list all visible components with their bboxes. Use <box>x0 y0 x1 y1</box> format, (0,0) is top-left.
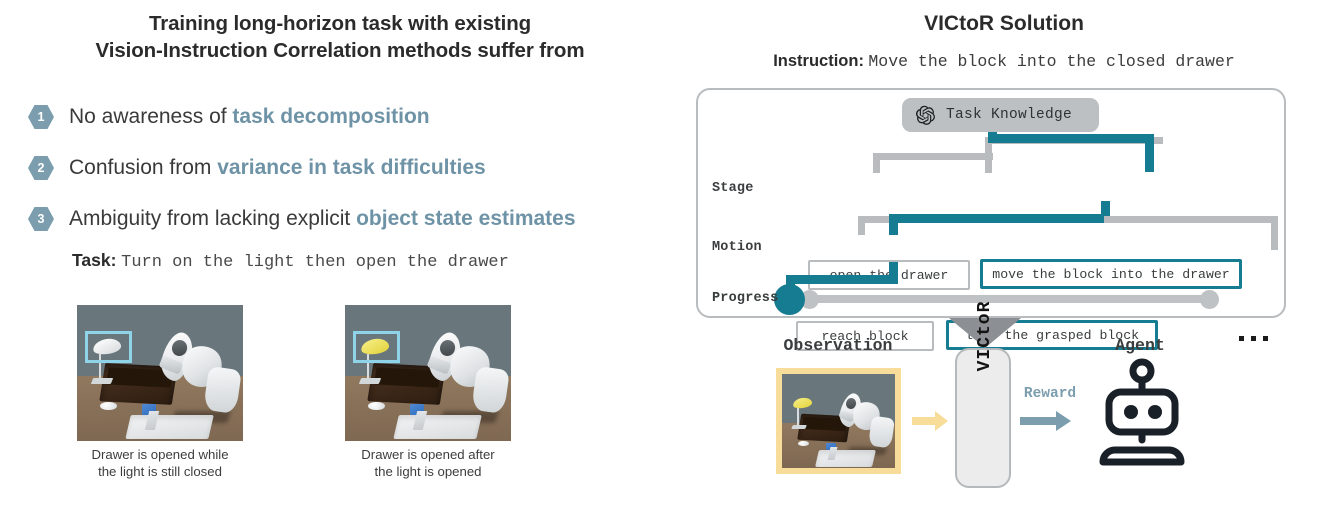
lamp-highlight-box <box>353 331 399 364</box>
agent-title: Agent <box>1060 336 1220 355</box>
bullet-highlight-1: task decomposition <box>232 105 429 128</box>
observation-title: Observation <box>758 336 918 355</box>
bullet-highlight-2: variance in task difficulties <box>217 156 485 179</box>
left-panel: Training long-horizon task with existing… <box>0 0 680 512</box>
left-panel-title: Training long-horizon task with existing… <box>0 10 680 64</box>
bullet-badge-2: 2 <box>28 156 54 180</box>
task-label: Task: <box>72 250 116 270</box>
list-item: 1 No awareness of task decomposition <box>28 96 668 138</box>
bullet-badge-1: 1 <box>28 105 54 129</box>
observation-to-victor-arrow <box>912 409 950 433</box>
figure-root: Training long-horizon task with existing… <box>0 0 1328 512</box>
shot-caption-2-line-2: the light is opened <box>345 464 511 481</box>
shot-caption-1: Drawer is opened while the light is stil… <box>77 447 243 480</box>
stage-node-2[interactable]: move the block into the drawer <box>980 259 1242 289</box>
sim-scene-lamp-on <box>345 305 511 441</box>
row-label-stage: Stage <box>712 181 754 196</box>
bullet-prefix-2: Confusion from <box>69 156 217 179</box>
bullet-badge-3: 3 <box>28 207 54 231</box>
bullet-highlight-3: object state estimates <box>356 207 575 230</box>
victor-module[interactable]: VICtoR <box>955 348 1011 488</box>
task-line: Task: Turn on the light then open the dr… <box>72 250 509 272</box>
progress-marker-end[interactable] <box>1200 290 1219 309</box>
list-item: 2 Confusion from variance in task diffic… <box>28 147 668 189</box>
reward-label: Reward <box>1015 386 1085 402</box>
reward-arrow <box>1020 409 1072 433</box>
ellipsis-icon <box>1239 336 1268 341</box>
observation-thumbnail[interactable] <box>776 368 901 474</box>
example-screenshots: Drawer is opened while the light is stil… <box>0 305 680 505</box>
shot-caption-2: Drawer is opened after the light is open… <box>345 447 511 480</box>
right-panel: VICtoR Solution Instruction: Move the bl… <box>680 0 1328 512</box>
task-knowledge-pill[interactable]: Task Knowledge <box>902 98 1099 132</box>
shot-caption-2-line-1: Drawer is opened after <box>345 447 511 464</box>
list-item: 3 Ambiguity from lacking explicit object… <box>28 198 668 240</box>
problem-list: 1 No awareness of task decomposition 2 C… <box>28 96 668 249</box>
bullet-prefix-3: Ambiguity from lacking explicit <box>69 207 356 230</box>
left-title-line-1: Training long-horizon task with existing <box>0 10 680 37</box>
instruction-line: Instruction: Move the block into the clo… <box>680 52 1328 71</box>
lamp-highlight-box <box>85 331 131 364</box>
instruction-value: Move the block into the closed drawer <box>868 52 1234 71</box>
bullet-text-1: No awareness of task decomposition <box>69 105 430 129</box>
bullet-text-2: Confusion from variance in task difficul… <box>69 156 486 180</box>
right-panel-title: VICtoR Solution <box>680 12 1328 36</box>
task-value: Turn on the light then open the drawer <box>121 253 509 272</box>
sim-scene-lamp-off <box>77 305 243 441</box>
example-shot-1: Drawer is opened while the light is stil… <box>77 305 243 480</box>
bullet-text-3: Ambiguity from lacking explicit object s… <box>69 207 576 231</box>
sim-scene-observation <box>782 374 895 468</box>
row-label-motion: Motion <box>712 240 762 255</box>
progress-marker-current[interactable] <box>774 284 805 315</box>
task-knowledge-label: Task Knowledge <box>946 107 1072 123</box>
instruction-label: Instruction: <box>773 52 864 70</box>
shot-caption-1-line-1: Drawer is opened while <box>77 447 243 464</box>
shot-caption-1-line-2: the light is still closed <box>77 464 243 481</box>
openai-flower-icon <box>915 105 936 126</box>
robot-icon <box>1095 358 1189 474</box>
example-shot-2: Drawer is opened after the light is open… <box>345 305 511 480</box>
row-label-progress: Progress <box>712 291 778 306</box>
victor-label: VICtoR <box>957 266 1013 406</box>
left-title-line-2: Vision-Instruction Correlation methods s… <box>0 37 680 64</box>
bullet-prefix-1: No awareness of <box>69 105 232 128</box>
